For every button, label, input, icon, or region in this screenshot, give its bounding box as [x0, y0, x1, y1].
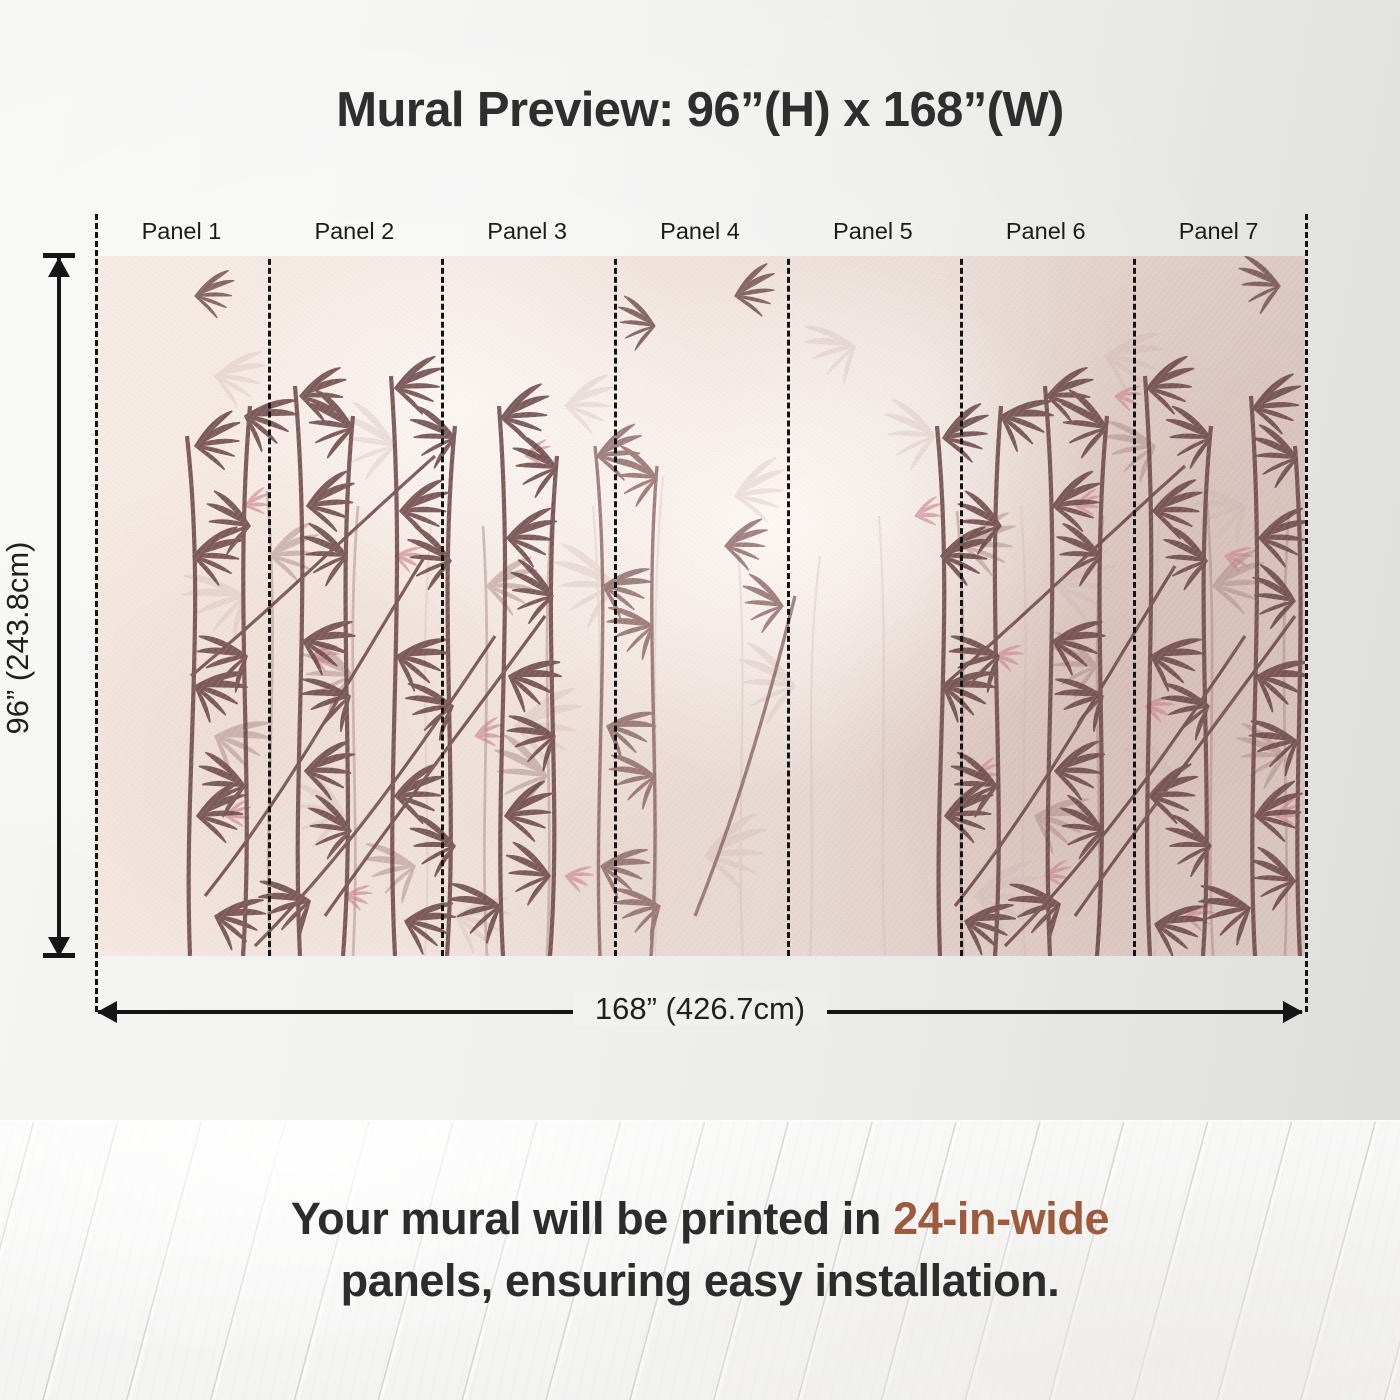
panel-label-4: Panel 4 [614, 216, 787, 250]
mural-preview-image[interactable] [95, 256, 1305, 956]
panel-label-5: Panel 5 [786, 216, 959, 250]
panel-label-7: Panel 7 [1132, 216, 1305, 250]
panel-label-row: Panel 1 Panel 2 Panel 3 Panel 4 Panel 5 … [95, 216, 1305, 250]
page-title: Mural Preview: 96”(H) x 168”(W) [0, 82, 1400, 138]
panel-label-6: Panel 6 [959, 216, 1132, 250]
panel-divider-5 [960, 256, 963, 956]
caption: Your mural will be printed in 24-in-wide… [0, 1188, 1400, 1312]
width-dimension-label: 168” (426.7cm) [0, 991, 1400, 1027]
panel-divider-1 [268, 256, 271, 956]
arrowhead-up-icon [48, 257, 70, 277]
caption-accent-text: 24-in-wide [893, 1193, 1109, 1244]
arrowhead-down-icon [48, 937, 70, 957]
mural-edge-left [95, 214, 98, 1012]
panel-divider-4 [787, 256, 790, 956]
panel-label-3: Panel 3 [441, 216, 614, 250]
height-dimension-label: 96” (243.8cm) [0, 328, 36, 948]
panel-label-2: Panel 2 [268, 216, 441, 250]
height-dimension-arrow [57, 258, 61, 956]
caption-line-2: panels, ensuring easy installation. [0, 1250, 1400, 1312]
panel-divider-3 [614, 256, 617, 956]
mural-edge-right [1305, 214, 1308, 1012]
mural-texture-grain [95, 256, 1305, 956]
caption-line-1: Your mural will be printed in 24-in-wide [0, 1188, 1400, 1250]
width-dimension-text: 168” (426.7cm) [573, 991, 827, 1026]
panel-divider-6 [1133, 256, 1136, 956]
panel-divider-2 [441, 256, 444, 956]
panel-label-1: Panel 1 [95, 216, 268, 250]
caption-text-before: Your mural will be printed in [291, 1193, 893, 1244]
